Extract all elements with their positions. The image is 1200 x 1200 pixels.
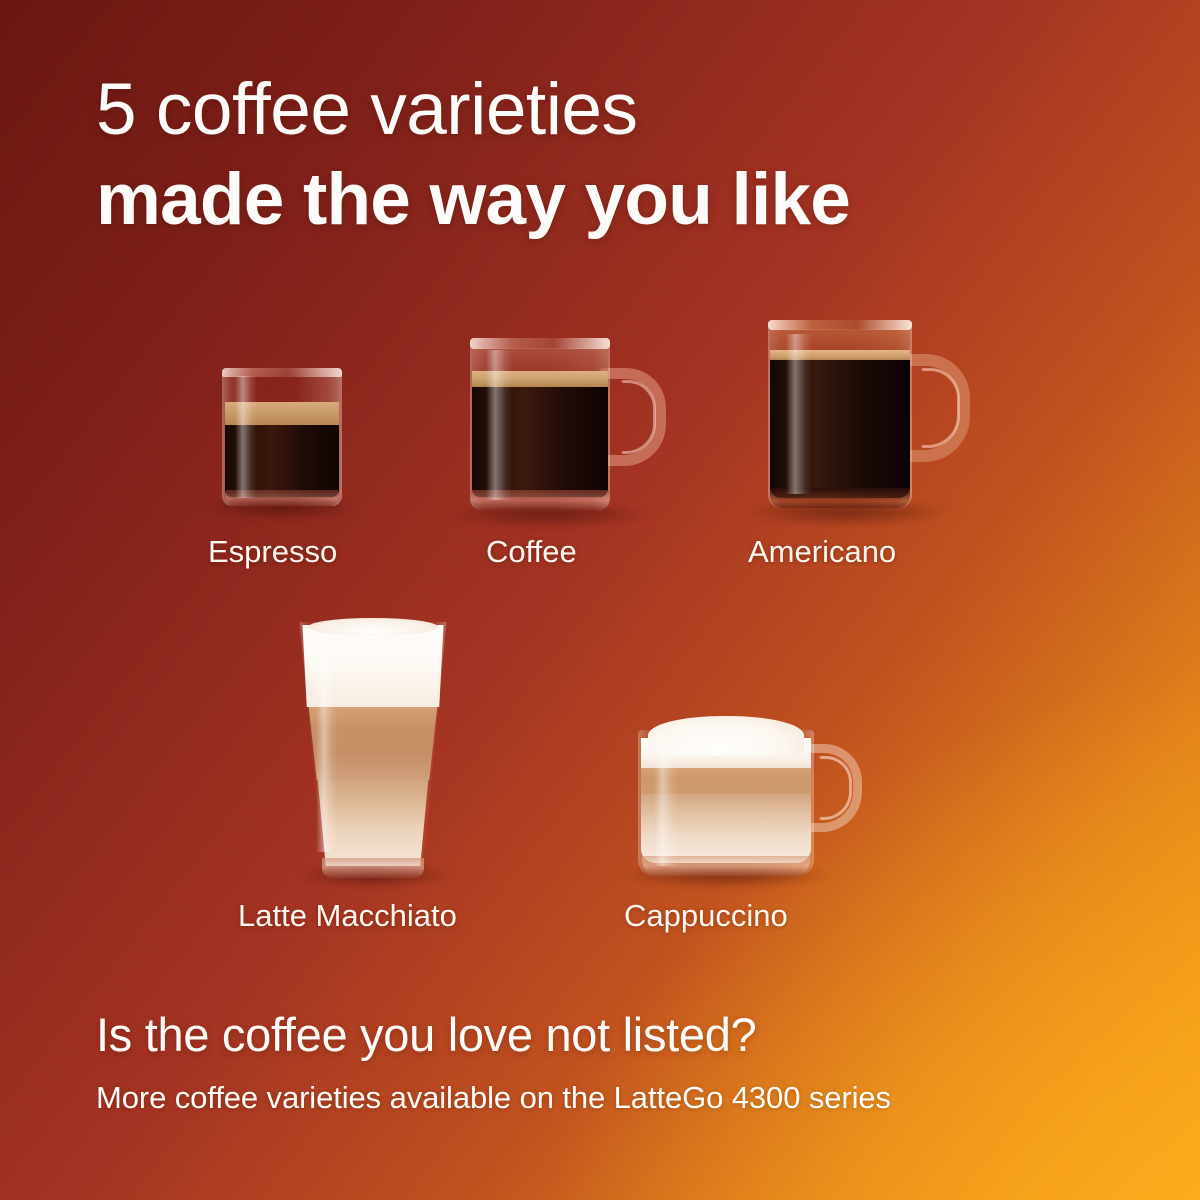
cappuccino-milk-layer (641, 793, 811, 863)
latte-foam-layer (301, 625, 445, 707)
footer-block: Is the coffee you love not listed? More … (96, 1004, 1106, 1118)
cappuccino-coffee-layer (641, 766, 811, 794)
headline: 5 coffee varieties made the way you like (96, 66, 850, 246)
latte-coffee-layer (306, 706, 440, 780)
coffee-mug-rim (470, 338, 610, 349)
espresso-crema-layer (225, 402, 339, 426)
cappuccino-cup-icon (638, 716, 866, 884)
label-cappuccino: Cappuccino (624, 898, 788, 934)
label-americano: Americano (748, 534, 896, 570)
coffee-liquid-layer (472, 387, 608, 497)
americano-mug-rim (768, 320, 912, 330)
footer-question: Is the coffee you love not listed? (96, 1004, 1106, 1066)
label-latte-macchiato: Latte Macchiato (238, 898, 457, 934)
latte-milk-layer (314, 778, 432, 866)
cappuccino-foam-dome (648, 716, 804, 756)
coffee-crema-layer (472, 371, 608, 388)
headline-line-2: made the way you like (96, 154, 850, 246)
latte-glass-icon (298, 622, 448, 884)
label-espresso: Espresso (208, 534, 337, 570)
footer-subtitle: More coffee varieties available on the L… (96, 1078, 1106, 1118)
label-coffee: Coffee (486, 534, 577, 570)
headline-line-1: 5 coffee varieties (96, 66, 850, 154)
americano-mug-inner-top (770, 329, 910, 351)
espresso-base (226, 490, 338, 506)
espresso-coffee-layer (225, 425, 339, 497)
latte-foam-top (308, 618, 438, 636)
americano-liquid-layer (770, 360, 910, 498)
americano-mug-base (770, 488, 910, 508)
espresso-rim (222, 368, 342, 377)
espresso-glass-icon (222, 368, 342, 508)
coffee-mug-inner-top (472, 348, 608, 372)
coffee-mug-icon (470, 338, 670, 520)
coffee-mug-base (471, 490, 609, 510)
cappuccino-cup-base (642, 856, 810, 876)
latte-glass-base (322, 858, 424, 878)
coffee-varieties-poster: 5 coffee varieties made the way you like… (0, 0, 1200, 1200)
americano-mug-icon (768, 320, 974, 518)
